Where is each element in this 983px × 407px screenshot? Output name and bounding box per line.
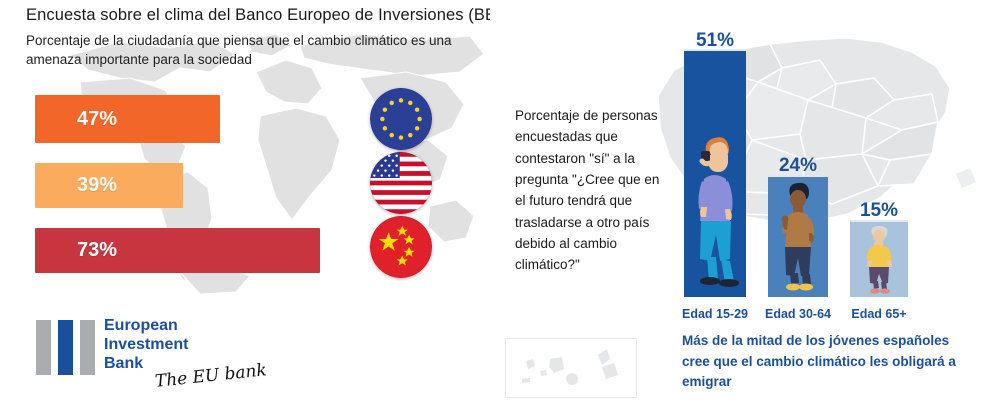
canary-islands-inset [505,338,637,398]
logo-bar-center [58,320,73,375]
page-title: Encuesta sobre el clima del Banco Europe… [26,6,490,25]
vbar-middle [768,175,828,297]
vbar-label-senior: Edad 65+ [851,307,906,321]
logo-bar-left [36,320,51,375]
vbar-label-middle: Edad 30-64 [765,307,831,321]
vbar-group-middle: 24% [768,157,828,297]
hbar-value-cn: 73% [77,239,117,262]
vbar-pct-senior: 15% [860,200,898,222]
left-panel: Encuesta sobre el clima del Banco Europe… [0,0,490,407]
person-young-illustration [684,51,746,297]
logo-line-european: European [104,317,188,336]
hbar-value-us: 39% [77,174,117,197]
logo-bar-right [80,320,95,375]
logo-wordmark: European Investment Bank [104,317,188,374]
canary-islands-map [506,339,636,397]
logo-line-investment: Investment [104,336,188,355]
key-finding-caption: Más de la mitad de los jóvenes españoles… [682,331,972,393]
vbar-pct-middle: 24% [779,155,817,177]
eib-logo: European Investment Bank The EU bank [36,320,276,398]
hbar-united-states: 39% [35,163,183,208]
vbar-label-young: Edad 15-29 [682,307,748,321]
vbar-group-young: 51% [684,32,746,297]
vbar-senior [850,220,908,297]
vbar-young [684,49,746,297]
hbar-china: 73% [35,228,320,273]
person-middle-illustration [768,177,828,297]
hbar-european-union: 47% [35,95,220,143]
survey-question-text: Porcentaje de personas encuestadas que c… [515,105,660,276]
page-subtitle: Porcentaje de la ciudadanía que piensa q… [26,31,456,69]
us-flag-icon [370,152,432,214]
vbar-group-senior: 15% [850,202,908,297]
eu-flag-icon [370,88,432,150]
person-senior-illustration [850,222,908,297]
china-flag-icon [370,216,432,278]
hbar-value-eu: 47% [77,108,117,131]
infographic-root: Encuesta sobre el clima del Banco Europe… [0,0,983,407]
